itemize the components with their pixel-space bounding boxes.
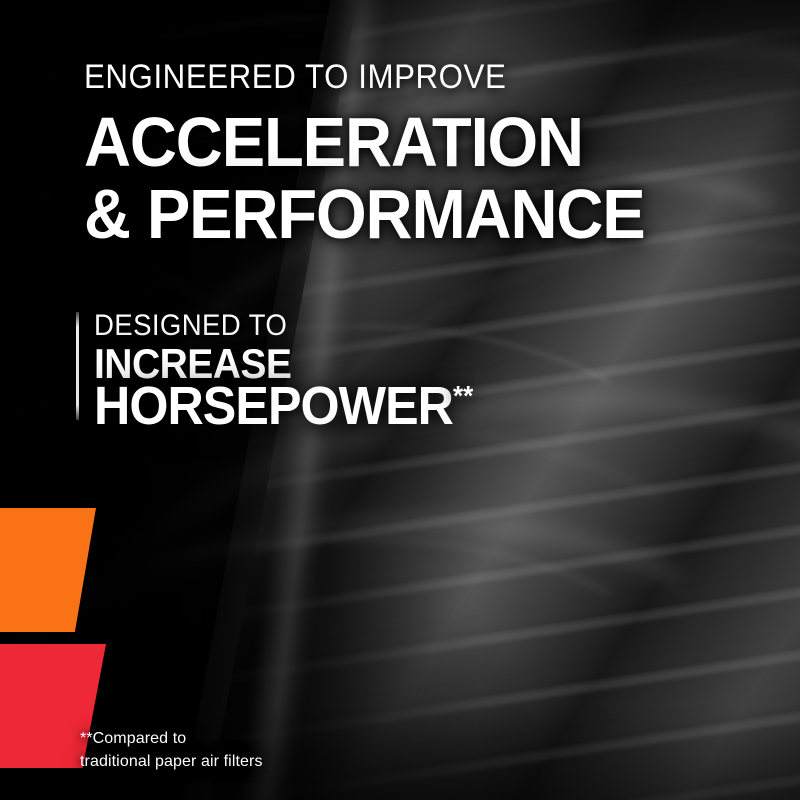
headline-eyebrow: ENGINEERED TO IMPROVE bbox=[84, 58, 506, 97]
footnote-marker: ** bbox=[453, 380, 473, 411]
headline-line-1: ACCELERATION bbox=[84, 102, 583, 182]
headline-line-2: & PERFORMANCE bbox=[84, 174, 645, 254]
footnote-line-2: traditional paper air filters bbox=[80, 751, 263, 774]
footnote-block: **Compared to traditional paper air filt… bbox=[80, 728, 263, 773]
banner-canvas: ENGINEERED TO IMPROVE ACCELERATION & PER… bbox=[0, 0, 800, 800]
subhead-eyebrow: DESIGNED TO bbox=[94, 309, 287, 343]
vertical-rule bbox=[76, 312, 79, 420]
footnote-line-1: **Compared to bbox=[80, 728, 263, 751]
subhead-line-2: HORSEPOWER** bbox=[94, 375, 473, 437]
subhead-line-2-text: HORSEPOWER bbox=[94, 376, 453, 436]
